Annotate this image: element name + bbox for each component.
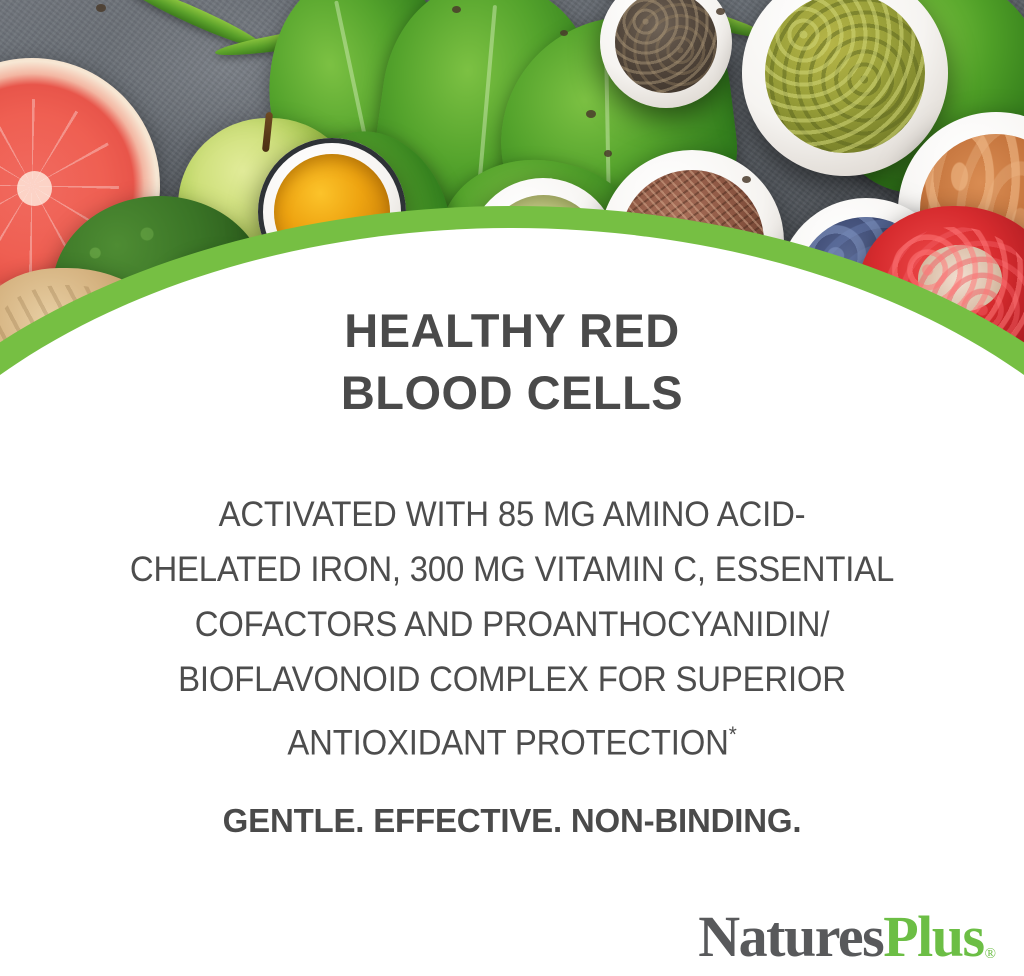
headline-line-2: BLOOD CELLS — [0, 362, 1024, 424]
subcopy-line-1: ACTIVATED WITH 85 MG AMINO ACID- — [68, 487, 955, 542]
logo-word-plus: Plus — [883, 908, 983, 966]
headline-line-1: HEALTHY RED — [0, 300, 1024, 362]
registered-trademark-icon: ® — [985, 947, 996, 966]
tagline: GENTLE. EFFECTIVE. NON-BINDING. — [0, 802, 1024, 840]
product-description: ACTIVATED WITH 85 MG AMINO ACID- CHELATE… — [68, 487, 955, 771]
poster-content: HEALTHY RED BLOOD CELLS ACTIVATED WITH 8… — [0, 0, 1024, 976]
subcopy-line-5: ANTIOXIDANT PROTECTION* — [68, 707, 955, 771]
logo-word-natures: Natures — [698, 908, 883, 966]
subcopy-line-2: CHELATED IRON, 300 MG VITAMIN C, ESSENTI… — [68, 542, 955, 597]
product-claim-poster: HEALTHY RED BLOOD CELLS ACTIVATED WITH 8… — [0, 0, 1024, 976]
subcopy-line-3: COFACTORS AND PROANTHOCYANIDIN/ — [68, 597, 955, 652]
naturesplus-logo: Natures Plus ® — [698, 908, 996, 966]
subcopy-line-5-text: ANTIOXIDANT PROTECTION — [287, 724, 728, 763]
subcopy-line-4: BIOFLAVONOID COMPLEX FOR SUPERIOR — [68, 652, 955, 707]
footnote-asterisk: * — [729, 722, 737, 747]
page-title: HEALTHY RED BLOOD CELLS — [0, 300, 1024, 424]
